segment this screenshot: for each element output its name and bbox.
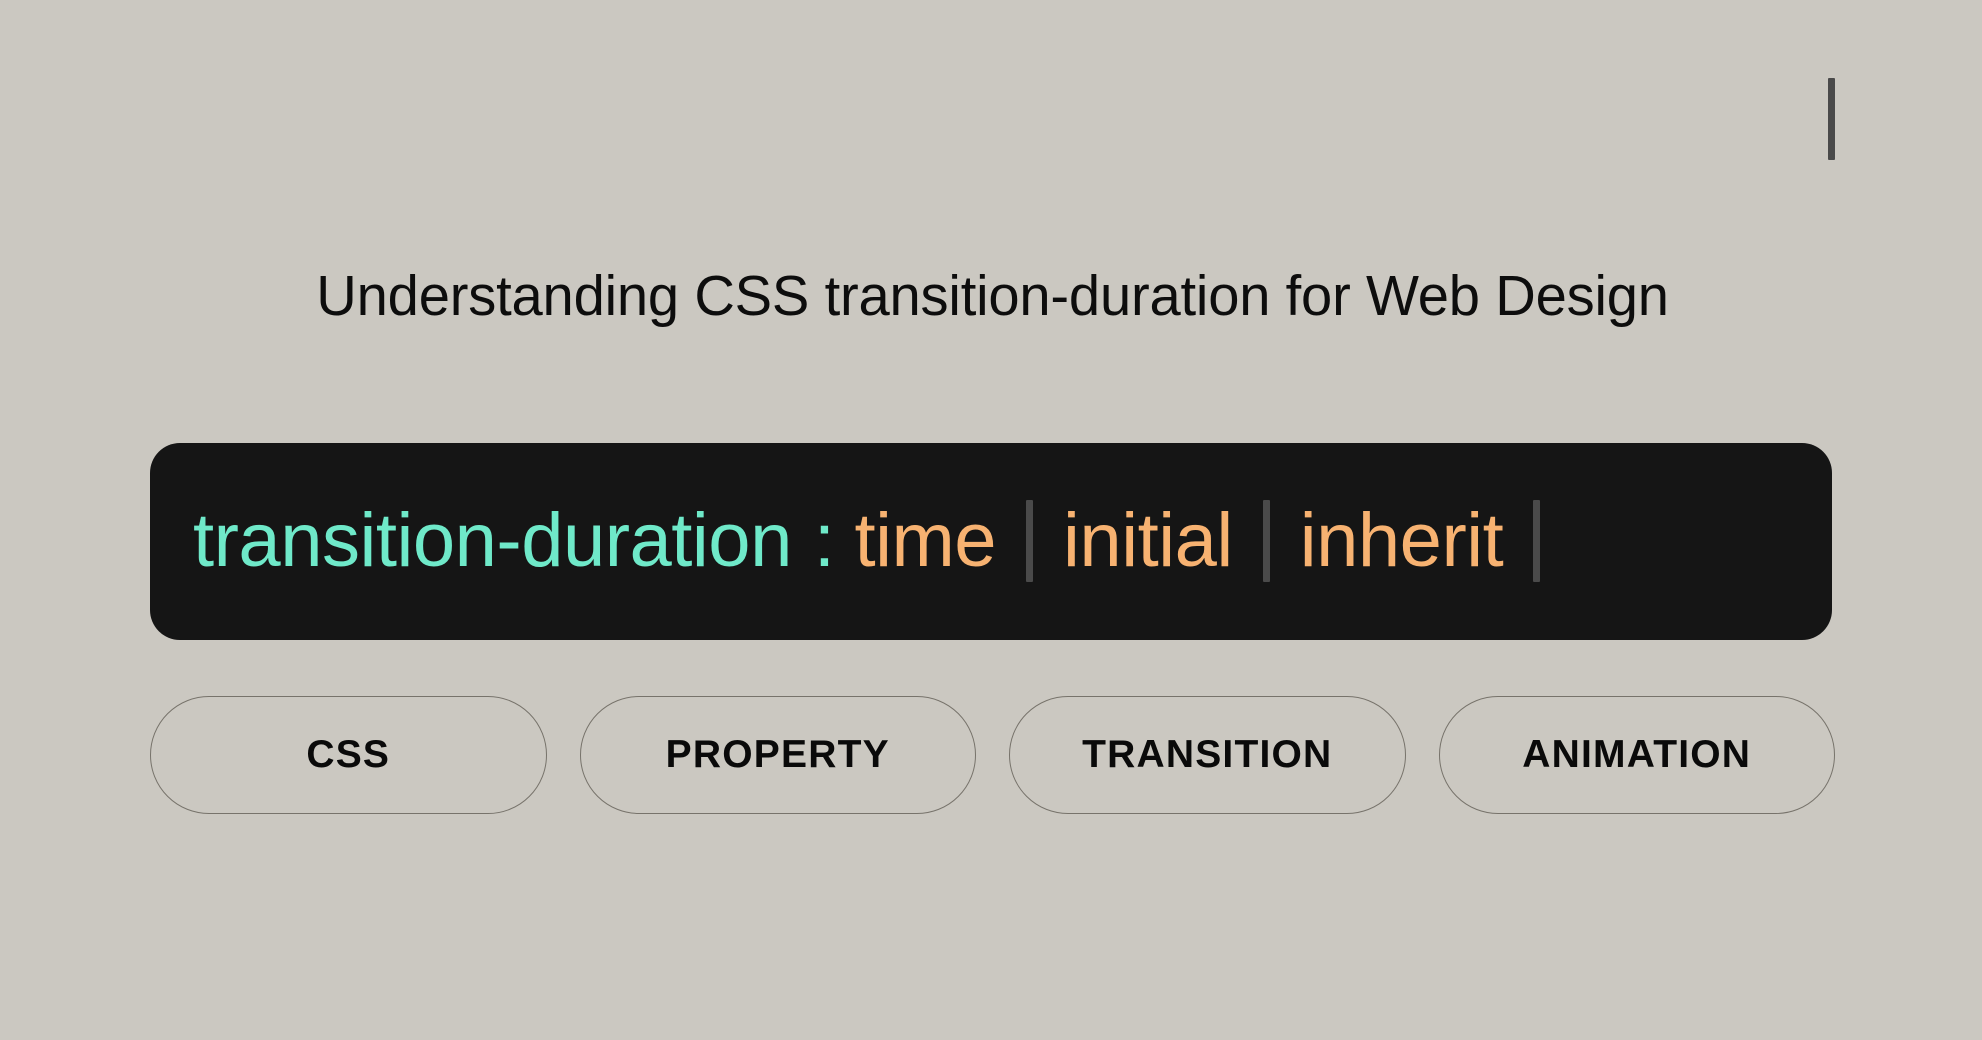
tag-css[interactable]: CSS xyxy=(150,696,547,814)
title-row: Understanding CSS transition-duration fo… xyxy=(150,226,1835,366)
code-token-colon: : xyxy=(814,503,835,579)
code-line: transition-duration : time initial inher… xyxy=(193,500,1570,582)
code-syntax-block: transition-duration : time initial inher… xyxy=(150,443,1832,640)
code-token-value-initial: initial xyxy=(1063,503,1233,579)
code-separator-pipe-overflow xyxy=(1828,78,1835,160)
code-token-value-time: time xyxy=(854,503,996,579)
page-title: Understanding CSS transition-duration fo… xyxy=(316,265,1669,329)
tag-list: CSS PROPERTY TRANSITION ANIMATION xyxy=(150,696,1835,814)
tag-label: CSS xyxy=(306,733,390,777)
tag-label: TRANSITION xyxy=(1082,733,1332,777)
code-separator-pipe xyxy=(1026,500,1033,582)
tag-label: ANIMATION xyxy=(1522,733,1751,777)
code-token-property: transition-duration xyxy=(193,503,792,579)
syntax-card: Understanding CSS transition-duration fo… xyxy=(150,0,1835,1040)
code-separator-pipe xyxy=(1263,500,1270,582)
code-separator-pipe xyxy=(1533,500,1540,582)
tag-property[interactable]: PROPERTY xyxy=(580,696,977,814)
code-token-value-inherit: inherit xyxy=(1300,503,1504,579)
tag-transition[interactable]: TRANSITION xyxy=(1009,696,1406,814)
tag-label: PROPERTY xyxy=(666,733,890,777)
page-root: Understanding CSS transition-duration fo… xyxy=(0,0,1982,1040)
tag-animation[interactable]: ANIMATION xyxy=(1439,696,1836,814)
